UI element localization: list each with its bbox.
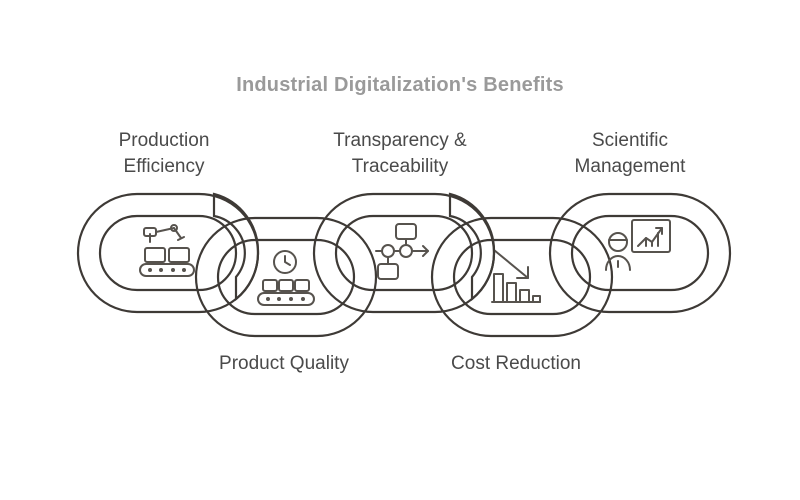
infographic-canvas: Industrial Digitalization's Benefits: [0, 0, 800, 500]
chain-graphic: [0, 180, 800, 350]
chain-link-scientific-management[interactable]: [550, 194, 730, 312]
clock-conveyor-icon: [258, 251, 314, 305]
chain-link-production-efficiency[interactable]: [78, 194, 258, 312]
label-cost-reduction: Cost Reduction: [416, 351, 616, 377]
chain-link-product-quality[interactable]: [196, 218, 376, 336]
flowchart-nodes-icon: [376, 224, 428, 279]
presenter-chart-board-icon: [606, 220, 670, 270]
robot-arm-conveyor-icon: [140, 225, 194, 276]
label-scientific-management: Scientific Management: [530, 128, 730, 180]
label-production-efficiency: Production Efficiency: [64, 128, 264, 180]
label-transparency-traceability: Transparency & Traceability: [300, 128, 500, 180]
page-title: Industrial Digitalization's Benefits: [0, 74, 800, 97]
chain-link-transparency-traceability[interactable]: [314, 194, 494, 312]
declining-bar-chart-icon: [492, 250, 540, 302]
label-product-quality: Product Quality: [184, 351, 384, 377]
chain-link-cost-reduction[interactable]: [432, 218, 612, 336]
